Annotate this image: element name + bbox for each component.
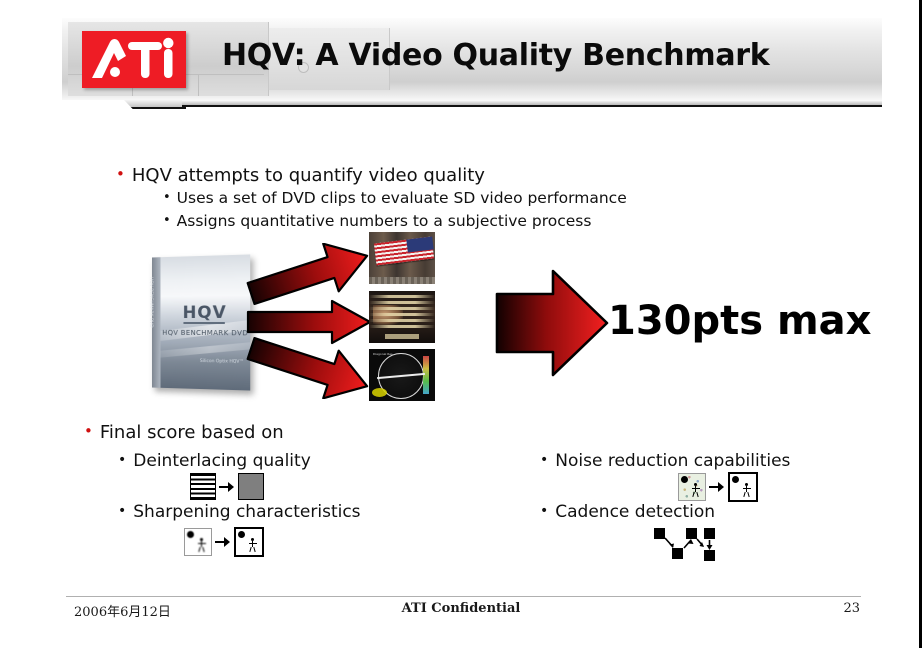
person-icon [691,483,700,497]
bullet-marker-icon: • [163,190,171,205]
dvd-cover-title: HQV [160,303,250,323]
cadence-pulldown-diagram-icon [650,526,730,566]
dvd-cover-rule [183,322,224,324]
bullet-final-score: •Final score based on [84,422,284,443]
slide-header: HQV: A Video Quality Benchmark [62,18,882,108]
arrow-to-zoneplate-clip-icon [246,337,376,399]
bullet-noise-reduction-label: Noise reduction capabilities [555,451,790,471]
noisy-image-icon [678,473,706,501]
arrow-final-score-icon [495,268,610,378]
zoneplate-corner-label: Diagonal Res [373,353,393,357]
flag-foreground-band [369,277,435,284]
bullet-sharpening: •Sharpening characteristics [118,502,361,522]
sharpening-diagram [184,527,264,557]
thumbnail-film-credits-clip [369,291,435,343]
clean-image-icon [728,472,758,502]
header-underline [182,100,882,107]
ati-logo-icon [82,31,186,88]
credits-text-line-3 [369,307,435,310]
person-icon [248,538,257,552]
bullet-quantitative-numbers-label: Assigns quantitative numbers to a subjec… [177,212,592,230]
footer-page-number: 23 [0,601,922,616]
dvd-spine-label: HQV BENCHMARK DVD [148,277,153,328]
transform-arrow-icon [215,536,231,548]
credits-text-line-2 [369,301,435,304]
sharp-image-icon [234,527,264,557]
dvd-cover-subtitle: HQV BENCHMARK DVD [160,329,250,337]
arrow-to-flag-clip-icon [246,243,376,305]
bullet-marker-icon: • [163,213,171,228]
bullet-deinterlacing: •Deinterlacing quality [118,451,311,471]
bullet-dvd-clips: •Uses a set of DVD clips to evaluate SD … [163,189,627,207]
header-seam-vertical-2 [198,74,199,96]
bullet-noise-reduction: •Noise reduction capabilities [540,451,790,471]
bullet-marker-icon: • [540,452,548,468]
bullet-cadence-detection: •Cadence detection [540,502,715,522]
thumbnail-zone-plate-clip: Diagonal Res [369,349,435,401]
footer-divider [66,596,861,597]
noise-reduction-diagram [678,472,758,502]
credits-text-line-5 [369,319,435,322]
credits-text-line-6 [369,325,435,328]
hqv-benchmark-dvd-case: HQV BENCHMARK DVD HQV HQV BENCHMARK DVD … [152,254,250,390]
bullet-cadence-detection-label: Cadence detection [555,502,715,522]
zoneplate-color-scale [423,356,429,394]
bullet-hqv-quantify: •HQV attempts to quantify video quality [116,165,485,186]
bullet-deinterlacing-label: Deinterlacing quality [133,451,311,471]
interlaced-field-icon [190,473,216,500]
thumbnail-us-flag-clip [369,232,435,284]
bullet-marker-icon: • [540,503,548,519]
bullet-marker-icon: • [118,452,126,468]
credits-text-line-1 [369,295,435,298]
bullet-marker-icon: • [116,165,125,183]
bullet-dvd-clips-label: Uses a set of DVD clips to evaluate SD v… [177,189,627,207]
score-label: 130pts max [608,298,871,344]
zoneplate-logo-badge [372,388,387,397]
transform-arrow-icon [709,481,725,493]
person-icon [742,483,751,497]
dvd-cover-credit: Silicon Optix HQV™ [200,359,244,367]
credits-text-line-4 [369,313,435,316]
sun-icon [187,531,194,538]
deinterlacing-diagram [190,473,264,500]
person-icon [197,538,206,552]
slide: HQV: A Video Quality Benchmark •HQV atte… [0,0,922,648]
dvd-front-cover: HQV HQV BENCHMARK DVD Silicon Optix HQV™ [160,254,250,390]
transform-arrow-icon [219,481,235,493]
bullet-sharpening-label: Sharpening characteristics [133,502,360,522]
bullet-hqv-quantify-label: HQV attempts to quantify video quality [132,165,485,186]
header-wedge [124,100,186,109]
dvd-cover-sheen-2 [160,340,250,360]
page-title: HQV: A Video Quality Benchmark [222,38,872,73]
sun-icon [681,476,688,483]
bullet-marker-icon: • [84,422,93,440]
ati-logo [82,31,186,88]
progressive-frame-icon [238,473,264,500]
bullet-quantitative-numbers: •Assigns quantitative numbers to a subje… [163,212,591,230]
bullet-final-score-label: Final score based on [100,422,284,443]
sun-icon [732,476,739,483]
sun-icon [238,531,245,538]
bullet-marker-icon: • [118,503,126,519]
credits-lower-title [385,334,419,339]
soft-image-icon [184,528,212,556]
